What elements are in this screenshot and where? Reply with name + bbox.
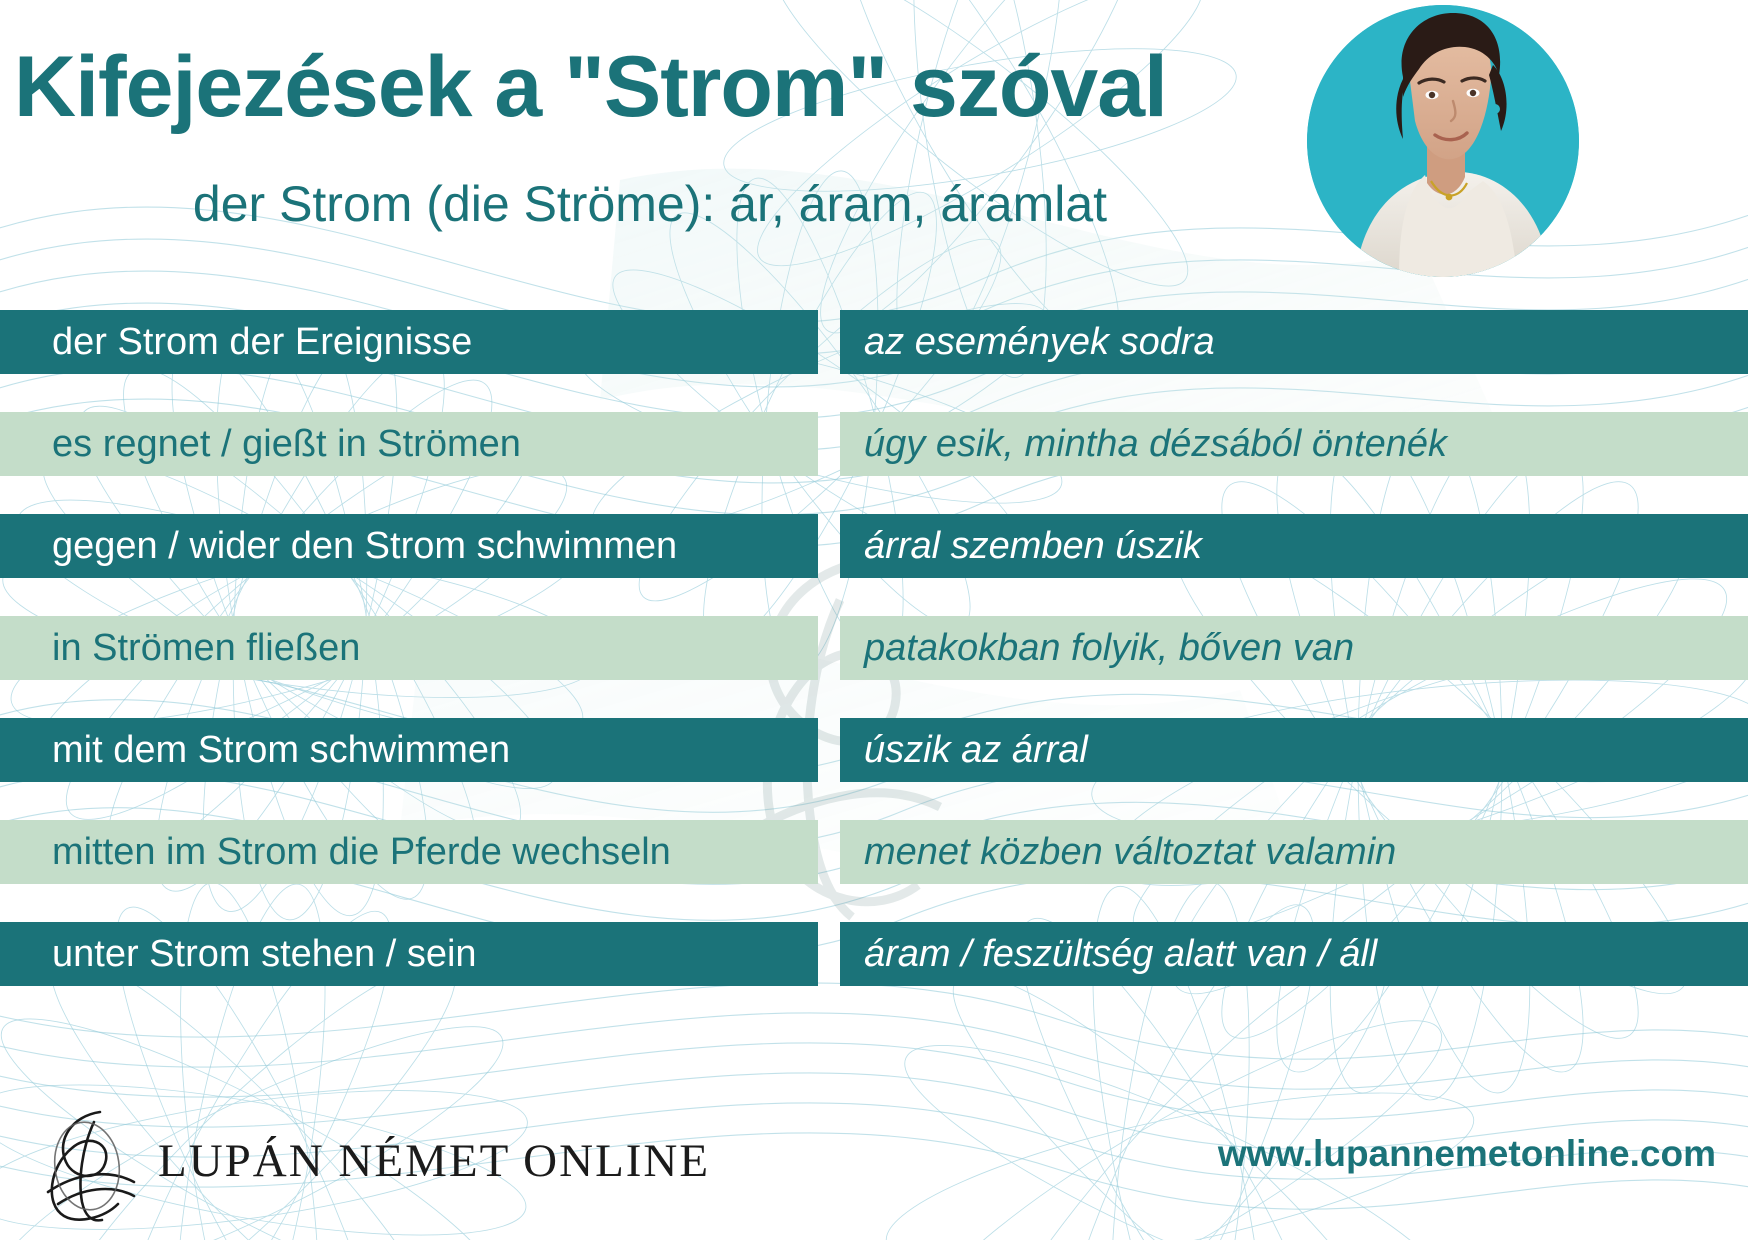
table-row-german-5: mit dem Strom schwimmen bbox=[0, 718, 818, 782]
brand-logo-text: LUPÁN NÉMET ONLINE bbox=[158, 1134, 710, 1188]
hungarian-phrase: menet közben változtat valamin bbox=[864, 833, 1396, 871]
table-row-german-1: der Strom der Ereignisse bbox=[0, 310, 818, 374]
german-phrase: in Strömen fließen bbox=[52, 629, 360, 667]
table-row-german-6: mitten im Strom die Pferde wechseln bbox=[0, 820, 818, 884]
poster-canvas: Kifejezések a "Strom" szóval der Strom (… bbox=[0, 0, 1748, 1240]
german-phrase: unter Strom stehen / sein bbox=[52, 935, 477, 973]
table-row-hungarian-4: patakokban folyik, bőven van bbox=[840, 616, 1748, 680]
table-row-hungarian-1: az események sodra bbox=[840, 310, 1748, 374]
hungarian-phrase: úszik az árral bbox=[864, 731, 1088, 769]
brand-logo[interactable]: LUPÁN NÉMET ONLINE bbox=[30, 1100, 710, 1222]
hungarian-phrase: az események sodra bbox=[864, 323, 1215, 361]
hungarian-phrase: árral szemben úszik bbox=[864, 527, 1202, 565]
german-phrase: mitten im Strom die Pferde wechseln bbox=[52, 833, 671, 871]
table-row-german-2: es regnet / gießt in Strömen bbox=[0, 412, 818, 476]
table-row-hungarian-2: úgy esik, mintha dézsából öntenék bbox=[840, 412, 1748, 476]
german-phrase: der Strom der Ereignisse bbox=[52, 323, 472, 361]
hungarian-phrase: patakokban folyik, bőven van bbox=[864, 629, 1354, 667]
table-row-german-7: unter Strom stehen / sein bbox=[0, 922, 818, 986]
table-row-german-4: in Strömen fließen bbox=[0, 616, 818, 680]
phrase-table: der Strom der Ereignisse az események so… bbox=[0, 0, 1748, 1240]
table-row-hungarian-6: menet közben változtat valamin bbox=[840, 820, 1748, 884]
script-l-monogram-icon bbox=[30, 1100, 152, 1222]
german-phrase: es regnet / gießt in Strömen bbox=[52, 425, 521, 463]
hungarian-phrase: áram / feszültség alatt van / áll bbox=[864, 935, 1377, 973]
german-phrase: mit dem Strom schwimmen bbox=[52, 731, 510, 769]
table-row-hungarian-3: árral szemben úszik bbox=[840, 514, 1748, 578]
german-phrase: gegen / wider den Strom schwimmen bbox=[52, 527, 677, 565]
footer: LUPÁN NÉMET ONLINE www.lupannemetonline.… bbox=[0, 1095, 1748, 1240]
table-row-german-3: gegen / wider den Strom schwimmen bbox=[0, 514, 818, 578]
hungarian-phrase: úgy esik, mintha dézsából öntenék bbox=[864, 425, 1447, 463]
table-row-hungarian-7: áram / feszültség alatt van / áll bbox=[840, 922, 1748, 986]
table-row-hungarian-5: úszik az árral bbox=[840, 718, 1748, 782]
website-url[interactable]: www.lupannemetonline.com bbox=[1218, 1133, 1716, 1175]
